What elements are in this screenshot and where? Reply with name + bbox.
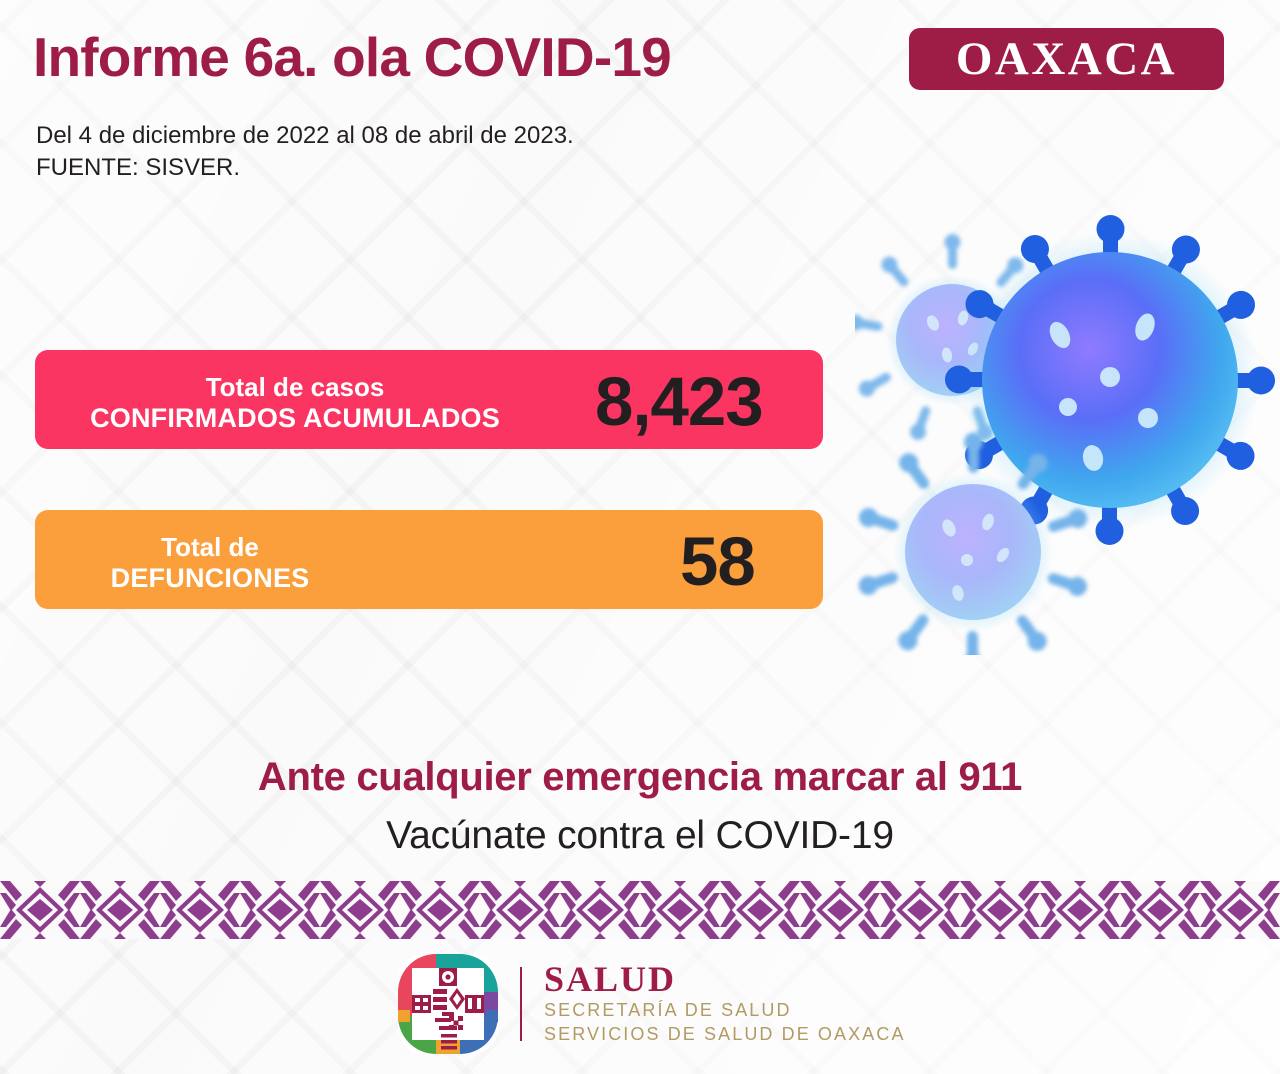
- subtitle-block: Del 4 de diciembre de 2022 al 08 de abri…: [36, 120, 936, 184]
- stat-label-line2: DEFUNCIONES: [0, 563, 470, 595]
- page-title: Informe 6a. ola COVID-19: [33, 25, 671, 89]
- stat-label-line1: Total de: [0, 532, 470, 563]
- stat-value-confirmed-cases: 8,423: [595, 367, 763, 436]
- report-source: FUENTE: SISVER.: [36, 152, 936, 184]
- footer-subtitle-line2: SERVICIOS DE SALUD DE OAXACA: [544, 1023, 906, 1047]
- header: Informe 6a. ola COVID-19 OAXACA: [0, 0, 1280, 115]
- footer-text-block: SALUD SECRETARÍA DE SALUD SERVICIOS DE S…: [544, 961, 906, 1046]
- message-block: Ante cualquier emergencia marcar al 911 …: [0, 755, 1280, 858]
- salud-wordmark: SALUD: [544, 961, 906, 999]
- footer-logo-lockup: SALUD SECRETARÍA DE SALUD SERVICIOS DE S…: [396, 952, 906, 1056]
- stat-card-label: Total de DEFUNCIONES: [0, 532, 470, 595]
- state-badge: OAXACA: [909, 28, 1224, 90]
- stat-card-confirmed-cases[interactable]: Total de casos CONFIRMADOS ACUMULADOS 8,…: [35, 350, 823, 449]
- state-badge-label: OAXACA: [956, 36, 1177, 83]
- decorative-greca-band: [0, 881, 1280, 939]
- stat-cards: Total de casos CONFIRMADOS ACUMULADOS 8,…: [35, 350, 825, 670]
- vaccine-message: Vacúnate contra el COVID-19: [0, 814, 1280, 858]
- footer-divider: [520, 967, 522, 1041]
- footer: SALUD SECRETARÍA DE SALUD SERVICIOS DE S…: [0, 948, 1280, 1068]
- salud-mosaic-emblem: [396, 952, 500, 1056]
- stat-label-line1: Total de casos: [35, 372, 555, 403]
- footer-subtitle-line1: SECRETARÍA DE SALUD: [544, 999, 906, 1023]
- emergency-message: Ante cualquier emergencia marcar al 911: [0, 755, 1280, 800]
- stat-card-label: Total de casos CONFIRMADOS ACUMULADOS: [35, 372, 555, 435]
- coronavirus-illustration: [855, 215, 1275, 655]
- stat-label-line2: CONFIRMADOS ACUMULADOS: [35, 403, 555, 435]
- stat-card-deaths[interactable]: Total de DEFUNCIONES 58: [35, 510, 823, 609]
- stat-value-deaths: 58: [680, 527, 755, 596]
- report-period: Del 4 de diciembre de 2022 al 08 de abri…: [36, 120, 936, 152]
